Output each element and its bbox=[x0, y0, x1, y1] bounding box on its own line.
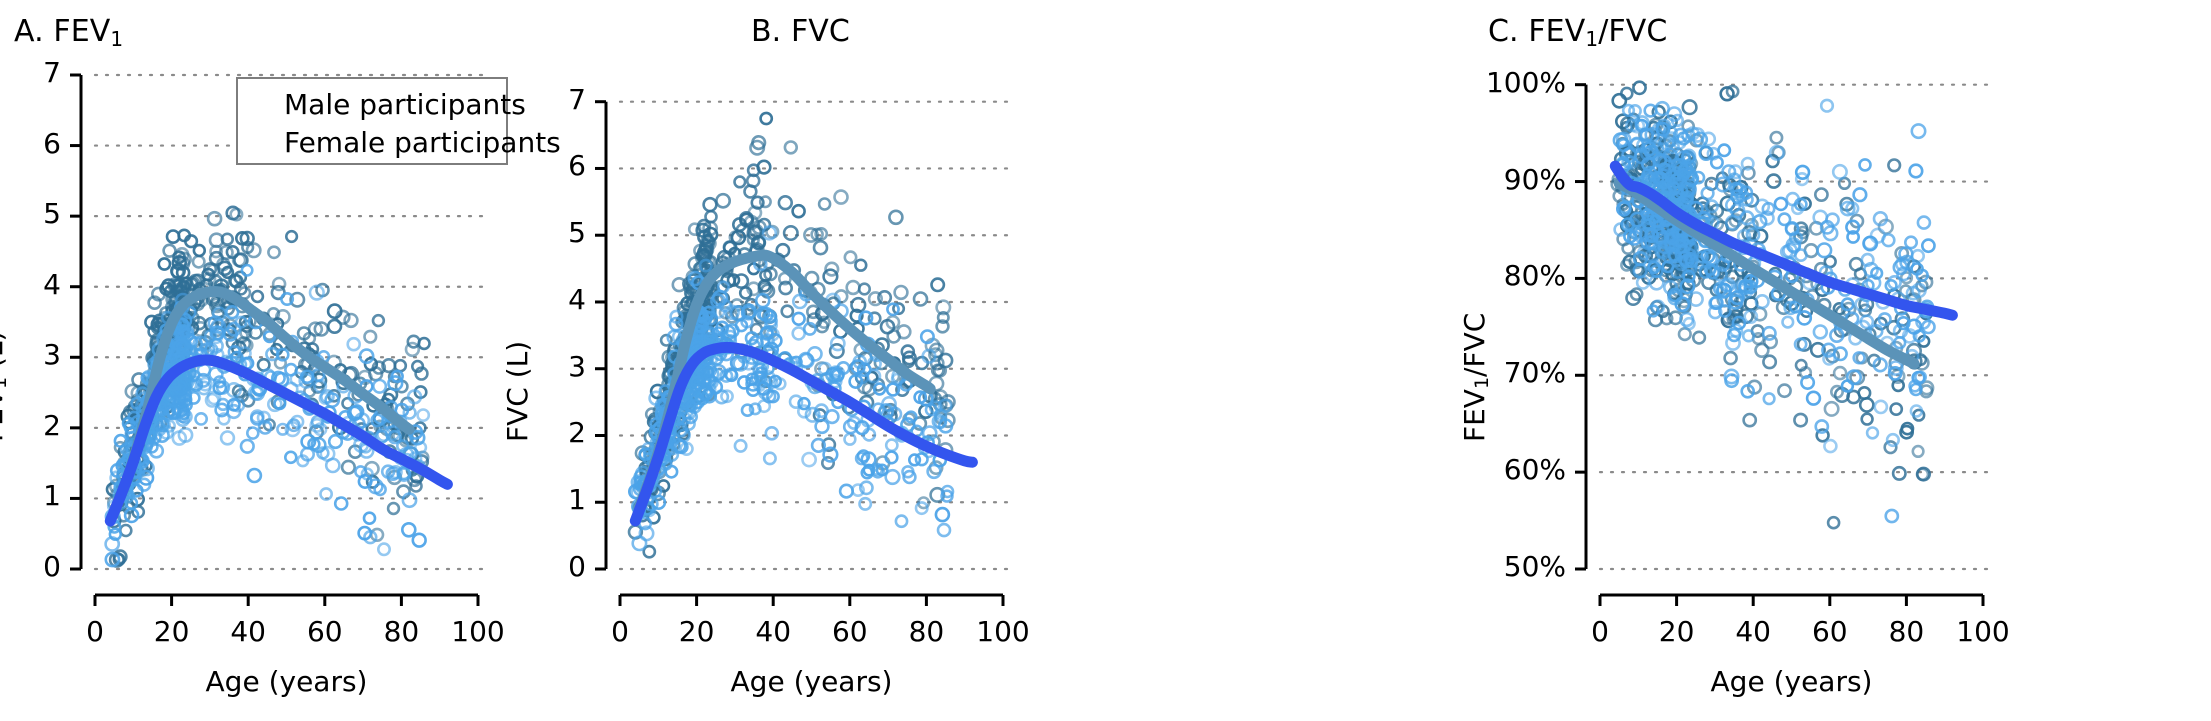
x-tick-label: 100 bbox=[963, 615, 1043, 648]
x-tick-label: 20 bbox=[657, 615, 737, 648]
x-tick-label: 60 bbox=[810, 615, 890, 648]
y-tick-label: 6 bbox=[43, 127, 61, 160]
y-tick-label: 100% bbox=[1486, 66, 1566, 99]
y-tick-label: 4 bbox=[43, 268, 61, 301]
x-tick-label: 20 bbox=[1637, 615, 1717, 648]
x-tick-label: 40 bbox=[733, 615, 813, 648]
y-tick-label: 5 bbox=[568, 216, 586, 249]
y-tick-label: 2 bbox=[43, 409, 61, 442]
y-tick-label: 1 bbox=[43, 479, 61, 512]
y-tick-label: 0 bbox=[568, 550, 586, 583]
x-tick-label: 0 bbox=[55, 615, 135, 648]
panel-c-fev1-fvc: C. FEV1/FVC 50%60%70%80%90%100%020406080… bbox=[1474, 0, 2211, 721]
x-axis-title: Age (years) bbox=[722, 665, 902, 698]
x-axis-title: Age (years) bbox=[1702, 665, 1882, 698]
x-tick-label: 80 bbox=[361, 615, 441, 648]
y-tick-label: 60% bbox=[1504, 453, 1566, 486]
y-tick-label: 1 bbox=[568, 483, 586, 516]
y-axis-title: FEV1/FVC bbox=[1458, 313, 1491, 442]
panel-b-canvas bbox=[737, 0, 1474, 721]
legend-label: Male participants bbox=[284, 88, 526, 121]
panel-b-plot: 01234567020406080100Age (years)FVC (L) bbox=[737, 0, 1474, 721]
x-tick-label: 100 bbox=[438, 615, 518, 648]
panel-c-plot: 50%60%70%80%90%100%020406080100Age (year… bbox=[1474, 0, 2211, 721]
legend-label: Female participants bbox=[284, 126, 561, 159]
y-tick-label: 4 bbox=[568, 283, 586, 316]
figure-spirometry-by-age: A. FEV1 01234567020406080100Age (years)F… bbox=[0, 0, 2211, 721]
y-tick-label: 7 bbox=[43, 56, 61, 89]
legend-item-male: Male participants bbox=[238, 85, 506, 123]
y-axis-title: FVC (L) bbox=[501, 341, 534, 442]
scatter-points-female bbox=[1614, 100, 1935, 522]
x-tick-label: 80 bbox=[886, 615, 966, 648]
y-tick-label: 7 bbox=[568, 83, 586, 116]
y-tick-label: 70% bbox=[1504, 356, 1566, 389]
y-tick-label: 0 bbox=[43, 550, 61, 583]
x-tick-label: 80 bbox=[1866, 615, 1946, 648]
y-tick-label: 80% bbox=[1504, 259, 1566, 292]
panel-a-plot: 01234567020406080100Age (years)FEV1 (L)M… bbox=[0, 0, 737, 721]
x-tick-label: 40 bbox=[208, 615, 288, 648]
y-tick-label: 6 bbox=[568, 149, 586, 182]
panel-c-canvas bbox=[1474, 0, 2211, 721]
y-tick-label: 3 bbox=[43, 338, 61, 371]
x-axis-title: Age (years) bbox=[197, 665, 377, 698]
legend-item-female: Female participants bbox=[238, 123, 506, 161]
x-tick-label: 20 bbox=[132, 615, 212, 648]
legend: Male participantsFemale participants bbox=[236, 77, 508, 165]
panel-b-fvc: B. FVC 01234567020406080100Age (years)FV… bbox=[737, 0, 1474, 721]
x-tick-label: 60 bbox=[285, 615, 365, 648]
y-tick-label: 50% bbox=[1504, 550, 1566, 583]
x-tick-label: 60 bbox=[1790, 615, 1870, 648]
x-tick-label: 40 bbox=[1713, 615, 1793, 648]
y-tick-label: 5 bbox=[43, 197, 61, 230]
x-tick-label: 0 bbox=[580, 615, 660, 648]
x-tick-label: 0 bbox=[1560, 615, 1640, 648]
y-tick-label: 90% bbox=[1504, 163, 1566, 196]
panel-a-fev1: A. FEV1 01234567020406080100Age (years)F… bbox=[0, 0, 737, 721]
y-axis-title: FEV1 (L) bbox=[0, 331, 9, 442]
y-tick-label: 2 bbox=[568, 416, 586, 449]
y-tick-label: 3 bbox=[568, 350, 586, 383]
x-tick-label: 100 bbox=[1943, 615, 2023, 648]
